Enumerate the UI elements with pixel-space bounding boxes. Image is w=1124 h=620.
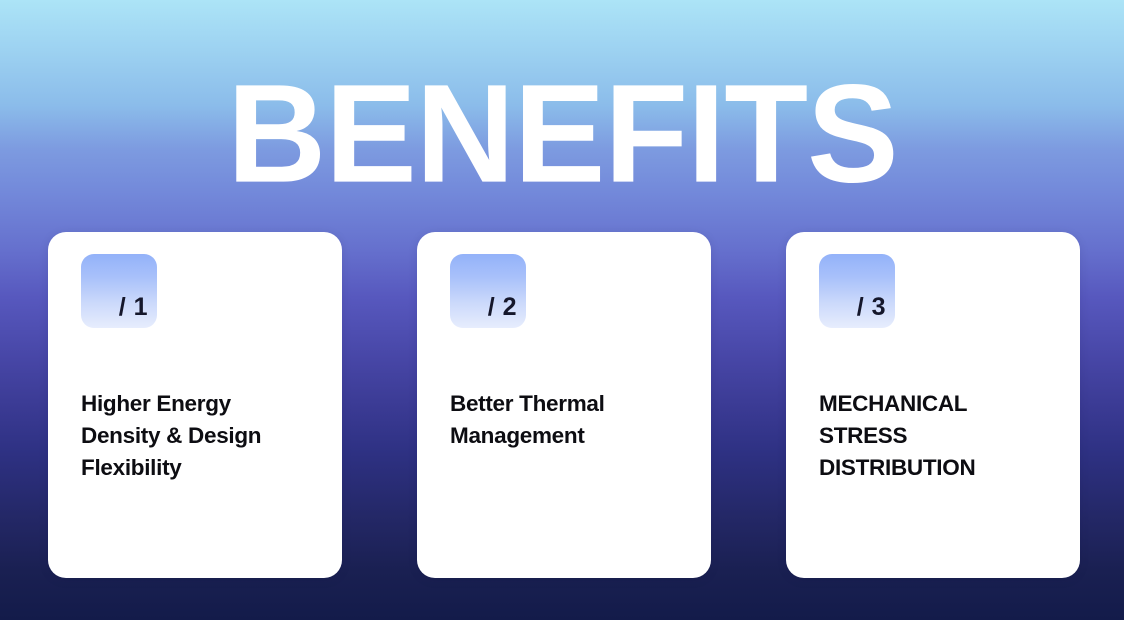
benefit-badge-number-2: / 2: [488, 295, 517, 320]
benefit-card-title-3: MECHANICAL STRESS DISTRIBUTION: [819, 388, 1080, 484]
benefit-card-2[interactable]: / 2 Better Thermal Management: [417, 232, 711, 578]
benefit-badge-number-3: / 3: [857, 295, 886, 320]
benefit-badge-2: / 2: [450, 254, 526, 328]
page-title: BENEFITS: [227, 64, 898, 204]
slide-canvas: BENEFITS / 1 Higher Energy Density & Des…: [0, 0, 1124, 620]
benefit-card-title-1: Higher Energy Density & Design Flexibili…: [81, 388, 342, 484]
benefit-card-title-2: Better Thermal Management: [450, 388, 711, 452]
benefit-cards-row: / 1 Higher Energy Density & Design Flexi…: [48, 232, 1080, 578]
benefit-badge-3: / 3: [819, 254, 895, 328]
benefit-badge-1: / 1: [81, 254, 157, 328]
benefit-card-1[interactable]: / 1 Higher Energy Density & Design Flexi…: [48, 232, 342, 578]
benefit-badge-number-1: / 1: [119, 295, 148, 320]
benefit-card-3[interactable]: / 3 MECHANICAL STRESS DISTRIBUTION: [786, 232, 1080, 578]
page-title-container: BENEFITS: [0, 64, 1124, 196]
